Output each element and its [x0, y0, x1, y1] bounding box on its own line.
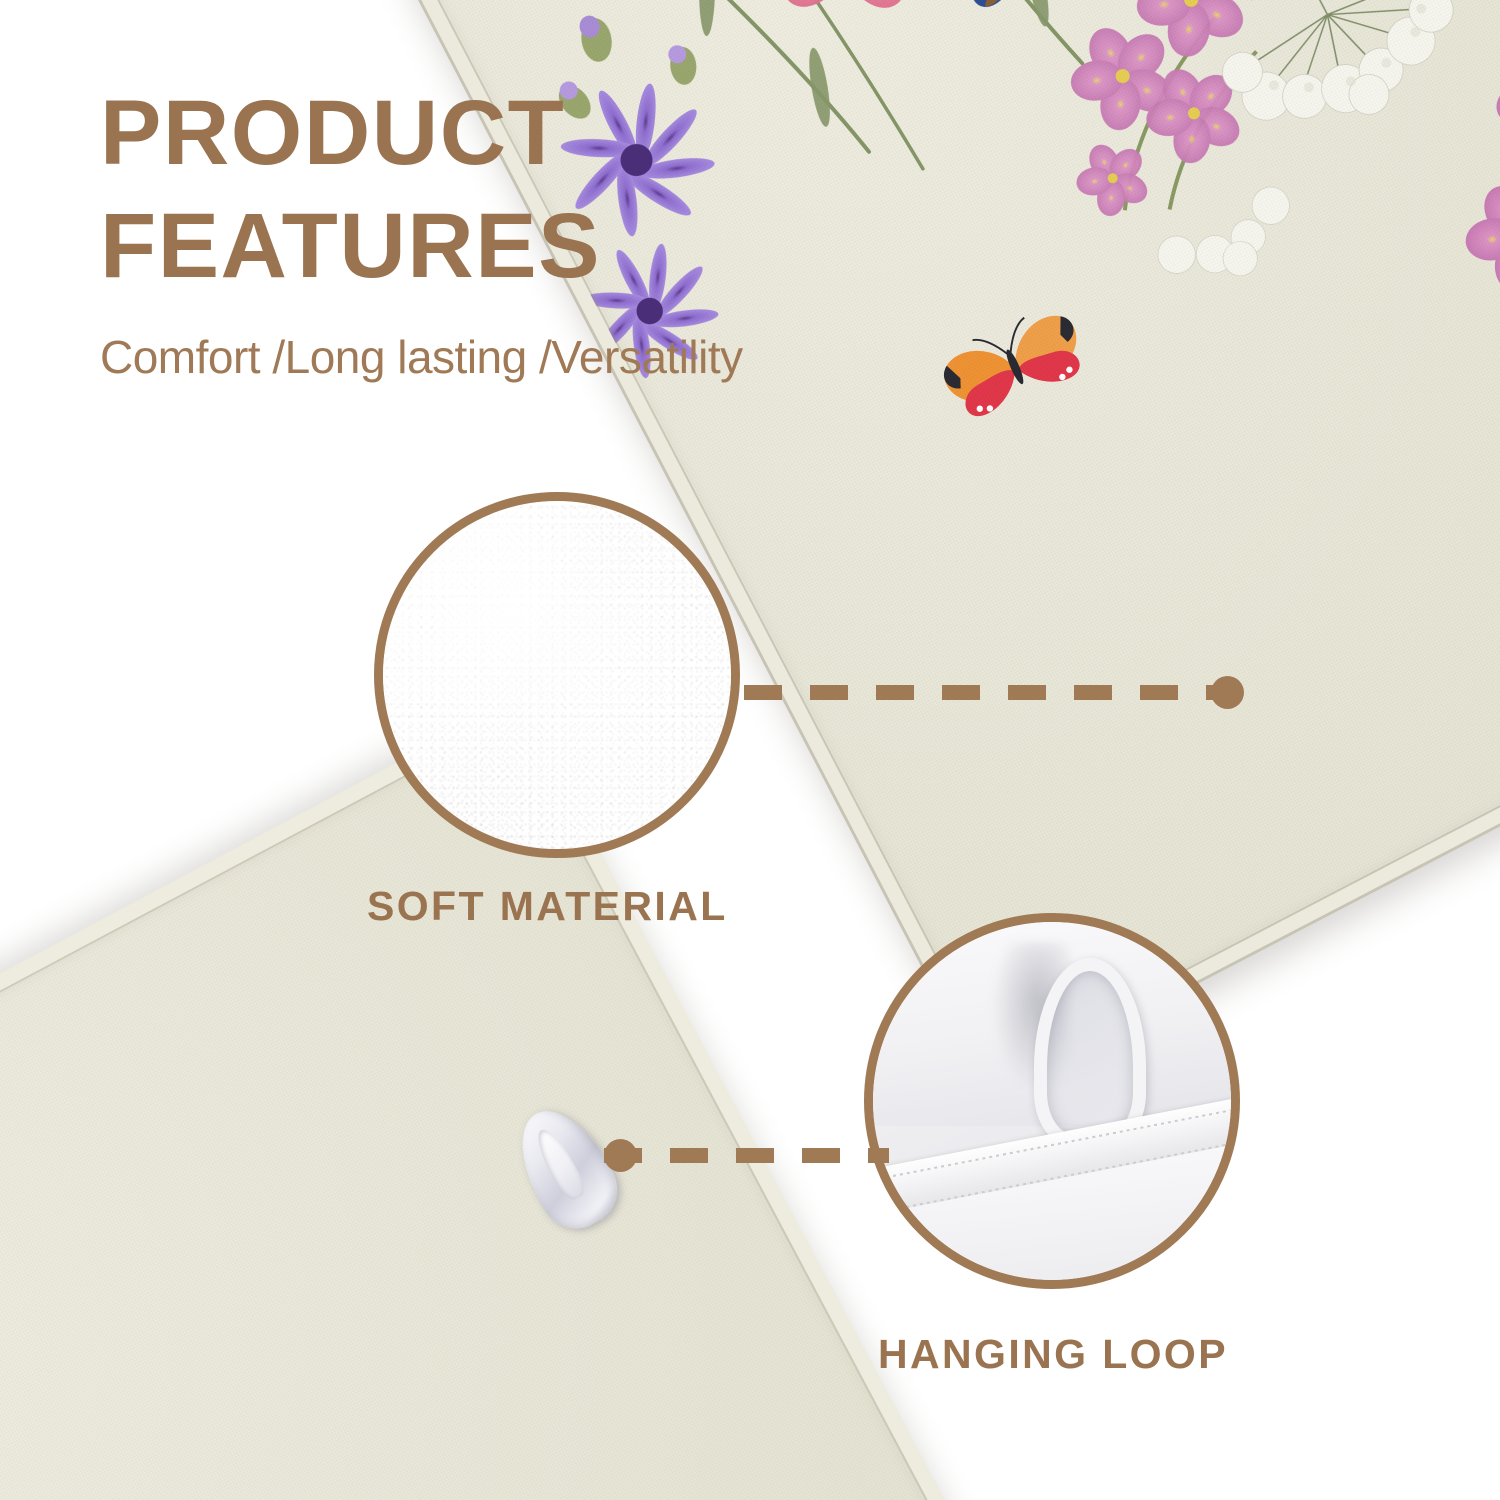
connector-hanging-loop: [604, 1148, 889, 1163]
dot-icon: [604, 1139, 637, 1172]
callout-label-hanging-loop: HANGING LOOP: [878, 1331, 1228, 1378]
infographic-canvas: PRODUCT FEATURES Comfort /Long lasting /…: [0, 0, 1500, 1500]
page-title-line-2: FEATURES: [100, 201, 860, 292]
dashed-line-icon: [744, 685, 1214, 700]
connector-soft-material: [744, 685, 1244, 700]
terry-texture: [383, 501, 731, 849]
queen-annes-lace-motif: [1070, 0, 1500, 308]
hanging-loop-photo: [873, 922, 1231, 1280]
page-title-line-1: PRODUCT: [100, 88, 860, 179]
callout-circle-hanging-loop: [864, 913, 1240, 1289]
callout-circle-soft-material: [374, 492, 740, 858]
dashed-line-icon: [604, 1148, 889, 1163]
loop-photo-scene: [873, 922, 1231, 1280]
soft-material-photo: [383, 501, 731, 849]
header-block: PRODUCT FEATURES Comfort /Long lasting /…: [100, 88, 860, 384]
page-subtitle: Comfort /Long lasting /Versatility: [100, 292, 860, 384]
orange-butterfly-motif: [934, 301, 1091, 424]
blue-butterfly-motif: [925, 0, 1108, 21]
callout-label-soft-material: SOFT MATERIAL: [367, 883, 728, 930]
dot-icon: [1211, 676, 1244, 709]
